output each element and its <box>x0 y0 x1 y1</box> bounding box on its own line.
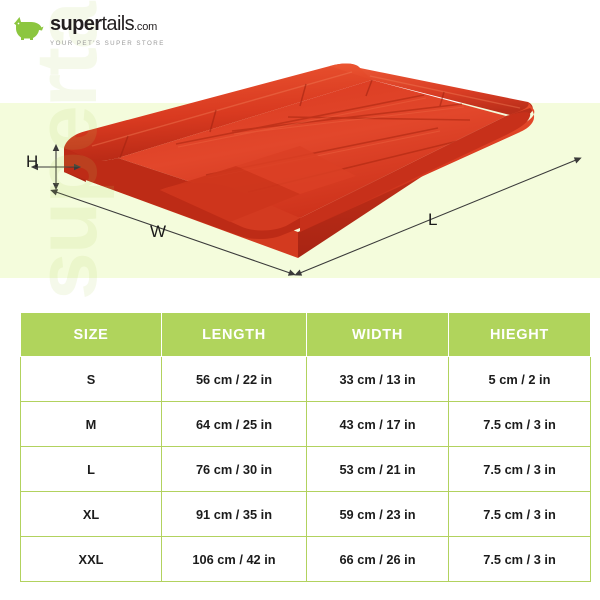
cell-length: 56 cm / 22 in <box>162 357 307 402</box>
size-chart-table: SIZE LENGTH WIDTH HIEGHT S 56 cm / 22 in… <box>20 312 591 582</box>
cell-height: 5 cm / 2 in <box>449 357 591 402</box>
cell-height: 7.5 cm / 3 in <box>449 492 591 537</box>
dimension-label-length: L <box>428 210 437 230</box>
brand-logo[interactable]: supertails.com YOUR PET'S SUPER STORE <box>14 14 165 47</box>
column-header-size: SIZE <box>21 313 162 357</box>
cell-width: 59 cm / 23 in <box>307 492 449 537</box>
column-header-width: WIDTH <box>307 313 449 357</box>
brand-tagline: YOUR PET'S SUPER STORE <box>50 40 165 47</box>
cell-width: 53 cm / 21 in <box>307 447 449 492</box>
cell-length: 91 cm / 35 in <box>162 492 307 537</box>
table-row: M 64 cm / 25 in 43 cm / 17 in 7.5 cm / 3… <box>21 402 591 447</box>
dimension-label-height: H <box>26 152 38 172</box>
cell-size: XL <box>21 492 162 537</box>
cell-size: L <box>21 447 162 492</box>
cell-width: 33 cm / 13 in <box>307 357 449 402</box>
cell-size: M <box>21 402 162 447</box>
dog-silhouette-icon <box>14 15 44 41</box>
table-row: S 56 cm / 22 in 33 cm / 13 in 5 cm / 2 i… <box>21 357 591 402</box>
table-row: XXL 106 cm / 42 in 66 cm / 26 in 7.5 cm … <box>21 537 591 582</box>
cell-width: 43 cm / 17 in <box>307 402 449 447</box>
brand-wordmark: supertails.com <box>50 14 165 37</box>
brand-word-super: super <box>50 13 101 35</box>
cell-height: 7.5 cm / 3 in <box>449 447 591 492</box>
cell-width: 66 cm / 26 in <box>307 537 449 582</box>
cell-height: 7.5 cm / 3 in <box>449 402 591 447</box>
table-row: XL 91 cm / 35 in 59 cm / 23 in 7.5 cm / … <box>21 492 591 537</box>
cell-size: XXL <box>21 537 162 582</box>
column-header-height: HIEGHT <box>449 313 591 357</box>
cell-length: 76 cm / 30 in <box>162 447 307 492</box>
dog-bed-product <box>64 64 534 258</box>
brand-word-tld: .com <box>134 21 157 33</box>
table-row: L 76 cm / 30 in 53 cm / 21 in 7.5 cm / 3… <box>21 447 591 492</box>
cell-height: 7.5 cm / 3 in <box>449 537 591 582</box>
cell-length: 106 cm / 42 in <box>162 537 307 582</box>
cell-size: S <box>21 357 162 402</box>
dimension-label-width: W <box>150 222 166 242</box>
cell-length: 64 cm / 25 in <box>162 402 307 447</box>
brand-word-tails: tails <box>101 13 134 35</box>
table-header-row: SIZE LENGTH WIDTH HIEGHT <box>21 313 591 357</box>
column-header-length: LENGTH <box>162 313 307 357</box>
